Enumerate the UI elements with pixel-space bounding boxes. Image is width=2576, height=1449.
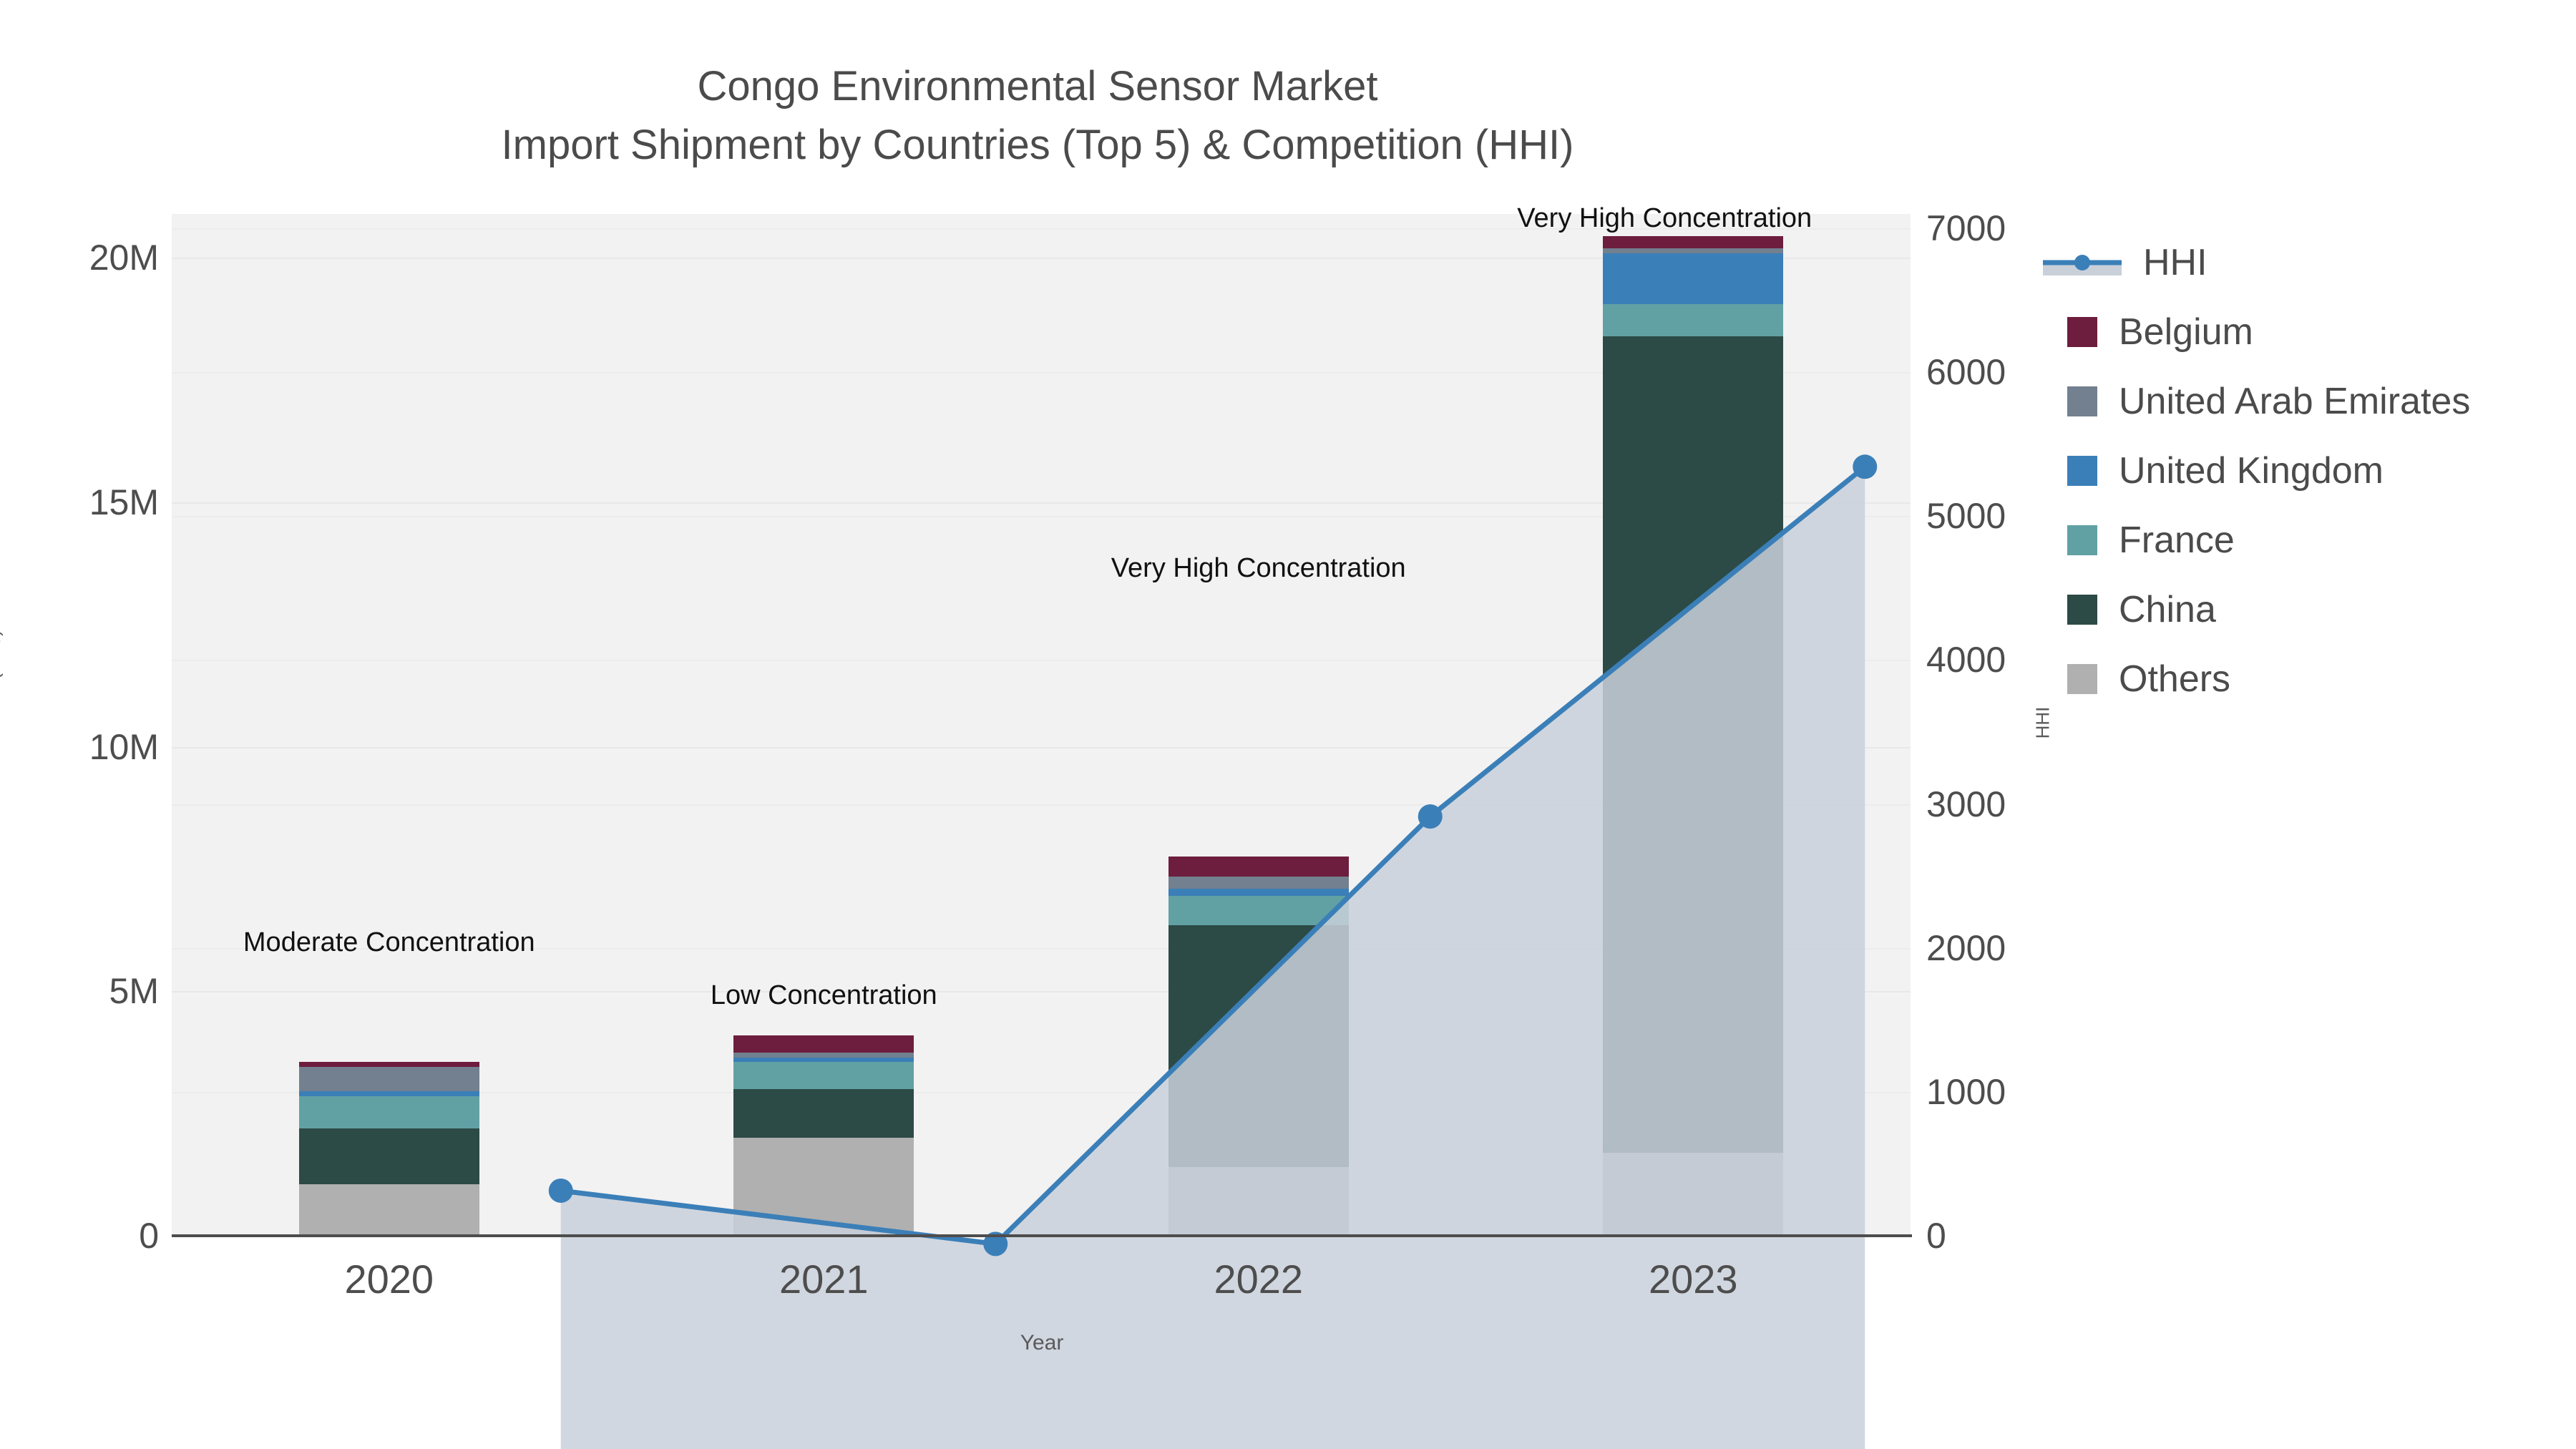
bar-segment-france[interactable] [1603, 304, 1783, 336]
y-tick-left: 15M [89, 482, 159, 523]
x-tick-2023: 2023 [1514, 1256, 1872, 1302]
bar-segment-china[interactable] [299, 1128, 479, 1185]
legend-swatch [2067, 595, 2097, 625]
legend-label: China [2119, 588, 2216, 631]
bar-segment-france[interactable] [299, 1096, 479, 1128]
bar-group-2023[interactable] [1603, 236, 1783, 1236]
chart-title: Congo Environmental Sensor Market Import… [0, 57, 2075, 175]
legend-item-france[interactable]: France [2043, 505, 2572, 575]
hhi-marker-2023[interactable] [1853, 454, 1877, 479]
x-tick-2021: 2021 [645, 1256, 1002, 1302]
legend-label: HHI [2143, 241, 2207, 284]
bar-group-2021[interactable] [733, 1035, 914, 1236]
legend-item-others[interactable]: Others [2043, 644, 2572, 713]
bar-segment-belgium[interactable] [1603, 236, 1783, 248]
y-tick-right: 1000 [1926, 1071, 2006, 1113]
hhi-marker-2020[interactable] [549, 1179, 573, 1203]
bar-segment-united-arab-emirates[interactable] [733, 1053, 914, 1058]
legend-item-united-arab-emirates[interactable]: United Arab Emirates [2043, 366, 2572, 436]
legend-swatch [2067, 525, 2097, 555]
legend-swatch [2067, 317, 2097, 347]
legend-label: France [2119, 519, 2235, 562]
x-axis-line [172, 1234, 1912, 1237]
y-tick-right: 5000 [1926, 495, 2006, 537]
bar-segment-united-kingdom[interactable] [1169, 889, 1349, 896]
bar-segment-others[interactable] [1603, 1153, 1783, 1236]
chart-subtitle: Import Shipment by Countries (Top 5) & C… [0, 116, 2075, 175]
y-tick-right: 3000 [1926, 784, 2006, 825]
x-tick-2020: 2020 [210, 1256, 568, 1302]
bar-segment-united-arab-emirates[interactable] [1169, 877, 1349, 889]
legend-swatch [2067, 456, 2097, 486]
y-tick-right: 6000 [1926, 351, 2006, 393]
y-tick-right: 4000 [1926, 639, 2006, 680]
y-tick-right: 2000 [1926, 927, 2006, 969]
bar-segment-belgium[interactable] [1169, 857, 1349, 876]
bar-segment-belgium[interactable] [299, 1062, 479, 1067]
x-tick-2022: 2022 [1080, 1256, 1438, 1302]
bar-group-2020[interactable] [299, 1062, 479, 1236]
chart-title-line-1: Congo Environmental Sensor Market [0, 57, 2075, 116]
y-tick-right: 0 [1926, 1215, 1946, 1257]
legend-swatch [2067, 386, 2097, 416]
bar-segment-china[interactable] [1169, 925, 1349, 1167]
bar-segment-china[interactable] [1603, 336, 1783, 1153]
annotation-2023: Very High Concentration [1517, 203, 1812, 234]
y-tick-left: 5M [109, 970, 159, 1012]
annotation-2021: Low Concentration [711, 980, 937, 1011]
legend-label: Belgium [2119, 311, 2253, 353]
legend-line-marker [2043, 248, 2122, 278]
x-axis-title: Year [863, 1331, 1221, 1355]
y-tick-left: 10M [89, 726, 159, 768]
legend-item-united-kingdom[interactable]: United Kingdom [2043, 436, 2572, 505]
bar-segment-united-kingdom[interactable] [1603, 253, 1783, 305]
bar-segment-france[interactable] [733, 1062, 914, 1089]
legend-swatch [2067, 664, 2097, 694]
bar-segment-united-arab-emirates[interactable] [1603, 248, 1783, 253]
legend-label: Others [2119, 658, 2230, 701]
chart-canvas: Congo Environmental Sensor Market Import… [0, 0, 2576, 1449]
legend-item-china[interactable]: China [2043, 575, 2572, 644]
legend-label: United Kingdom [2119, 449, 2384, 492]
bar-segment-china[interactable] [733, 1089, 914, 1138]
bar-segment-others[interactable] [733, 1138, 914, 1236]
legend-label: United Arab Emirates [2119, 380, 2470, 423]
y-axis-left-ticks: 05M10M15M20M [0, 0, 159, 1449]
chart-legend: HHIBelgiumUnited Arab EmiratesUnited Kin… [2043, 228, 2572, 713]
plot-area [172, 214, 1911, 1236]
bar-group-2022[interactable] [1169, 857, 1349, 1236]
bar-segment-france[interactable] [1169, 896, 1349, 925]
y-axis-right-ticks: 01000200030004000500060007000 [1926, 0, 2212, 1449]
bar-segment-others[interactable] [299, 1184, 479, 1236]
annotation-2022: Very High Concentration [1111, 553, 1406, 584]
legend-item-belgium[interactable]: Belgium [2043, 297, 2572, 366]
bar-segment-others[interactable] [1169, 1167, 1349, 1236]
bar-segment-united-kingdom[interactable] [299, 1091, 479, 1096]
bar-segment-united-kingdom[interactable] [733, 1058, 914, 1063]
bar-segment-belgium[interactable] [733, 1035, 914, 1053]
y-tick-right: 7000 [1926, 208, 2006, 249]
annotation-2020: Moderate Concentration [243, 927, 535, 958]
legend-item-hhi[interactable]: HHI [2043, 228, 2572, 297]
y-axis-left-title: TRADE VALUE (US$) [0, 580, 4, 866]
hhi-marker-2022[interactable] [1418, 804, 1443, 829]
bar-segment-united-arab-emirates[interactable] [299, 1067, 479, 1091]
y-tick-left: 20M [89, 237, 159, 278]
y-tick-left: 0 [139, 1215, 159, 1257]
